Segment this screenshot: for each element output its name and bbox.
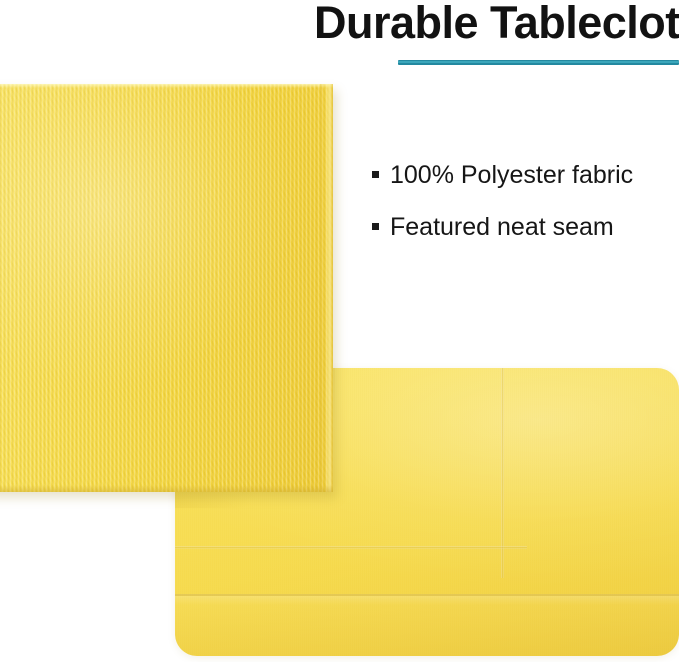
- page-title: Durable Tablecloth: [314, 0, 679, 49]
- stack-top-edge: [0, 84, 333, 88]
- product-feature-graphic: Durable Tablecloth 100% Polyester fabric…: [0, 0, 679, 662]
- feature-list: 100% Polyester fabric Featured neat seam: [372, 162, 672, 267]
- feature-label: Featured neat seam: [390, 214, 614, 240]
- square-bullet-icon: [372, 171, 379, 178]
- title-underline-rule: [398, 60, 679, 65]
- hem-seam-horizontal: [175, 546, 527, 549]
- fold-band: [175, 594, 679, 656]
- list-item: Featured neat seam: [372, 214, 672, 240]
- fabric-sheen: [0, 84, 333, 492]
- fold-band-edge: [175, 594, 679, 596]
- twill-texture-overlay: [0, 84, 333, 492]
- stack-fold-edge: [320, 84, 333, 492]
- stack-bottom-edge: [0, 485, 333, 492]
- square-bullet-icon: [372, 223, 379, 230]
- feature-label: 100% Polyester fabric: [390, 162, 633, 188]
- tablecloth-folded-stack-image: [0, 84, 333, 492]
- rib-texture-overlay: [0, 84, 333, 492]
- list-item: 100% Polyester fabric: [372, 162, 672, 188]
